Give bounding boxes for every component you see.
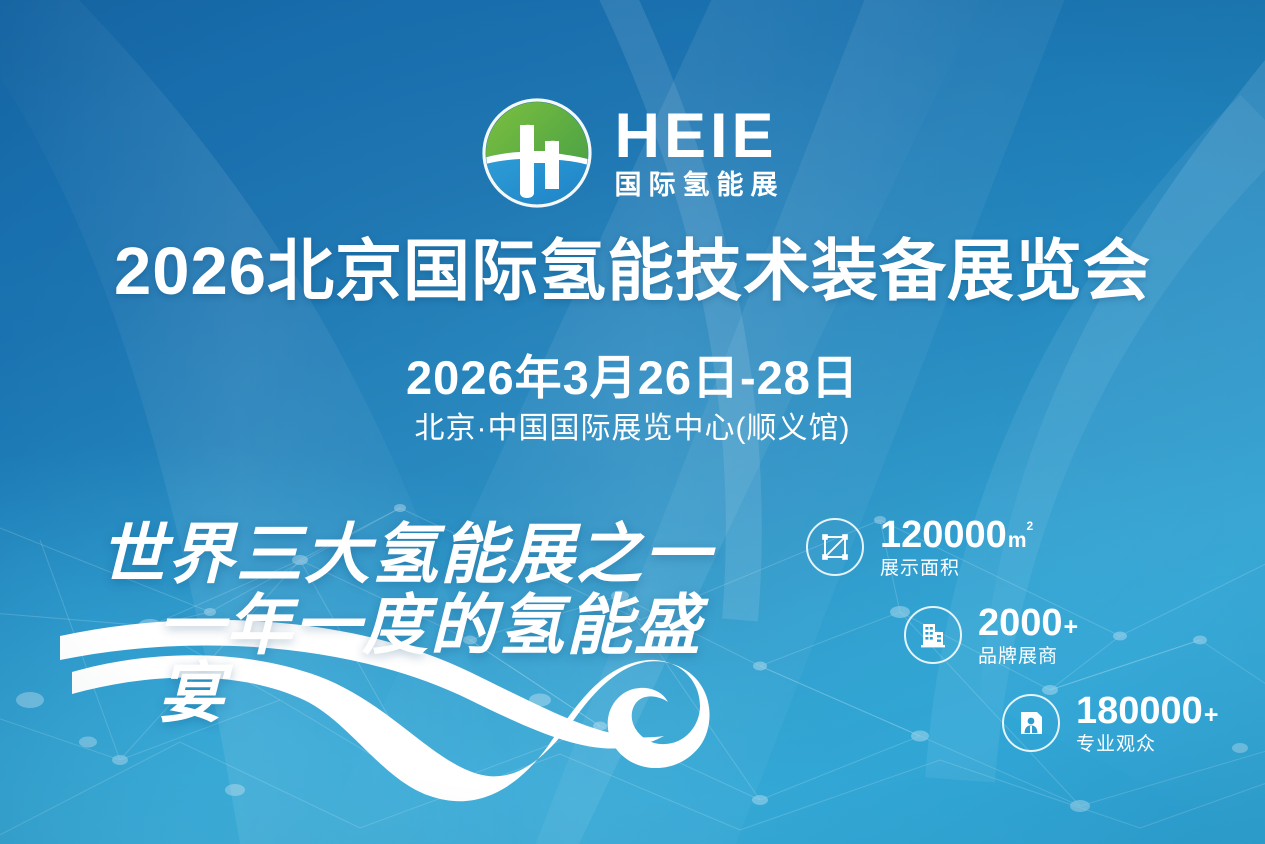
brand-logo-lockup: HEIE 国际氢能展 [0,97,1265,209]
stat-value-group: 120000 m2 [880,516,1033,554]
brand-wordmark-group: HEIE 国际氢能展 [615,107,785,199]
event-date: 2026年3月26日-28日 [0,352,1265,404]
slogan-line-1: 世界三大氢能展之一 [100,520,760,589]
stat-label: 专业观众 [1076,735,1218,754]
stat-text-group: 180000 + 专业观众 [1076,692,1218,754]
stat-item-brand-exhibitors: 2000 + 品牌展商 [904,604,1256,666]
heie-circle-logo-icon [481,97,593,209]
stat-suffix: + [1204,703,1219,728]
visitor-badge-icon [1002,694,1060,752]
building-icon [904,606,962,664]
stat-value-group: 2000 + [978,604,1078,642]
stat-value: 180000 [1076,692,1203,730]
event-stats-group: 120000 m2 展示面积 [806,516,1256,754]
stat-value: 2000 [978,604,1063,642]
stat-value: 120000 [880,516,1007,554]
event-poster: HEIE 国际氢能展 2026北京国际氢能技术装备展览会 2026年3月26日-… [0,0,1265,844]
event-slogan: 世界三大氢能展之一 一年一度的氢能盛宴 [100,520,760,728]
page-title: 2026北京国际氢能技术装备展览会 [0,236,1265,307]
stat-text-group: 2000 + 品牌展商 [978,604,1078,666]
stat-item-professional-visitors: 180000 + 专业观众 [1002,692,1256,754]
stat-suffix: + [1064,615,1079,640]
brand-wordmark: HEIE [615,107,778,166]
stat-label: 展示面积 [880,559,1033,578]
event-venue: 北京·中国国际展览中心(顺义馆) [0,412,1265,447]
stat-value-group: 180000 + [1076,692,1218,730]
brand-chinese-name: 国际氢能展 [615,172,785,199]
slogan-line-2: 一年一度的氢能盛宴 [158,591,760,728]
stat-unit-text: m [1008,529,1027,552]
stat-text-group: 120000 m2 展示面积 [880,516,1033,578]
stat-item-exhibition-area: 120000 m2 展示面积 [806,516,1256,578]
area-measure-icon [806,518,864,576]
stat-label: 品牌展商 [978,647,1078,666]
stat-unit-superscript: 2 [1027,519,1034,533]
stat-unit: m2 [1008,529,1033,551]
